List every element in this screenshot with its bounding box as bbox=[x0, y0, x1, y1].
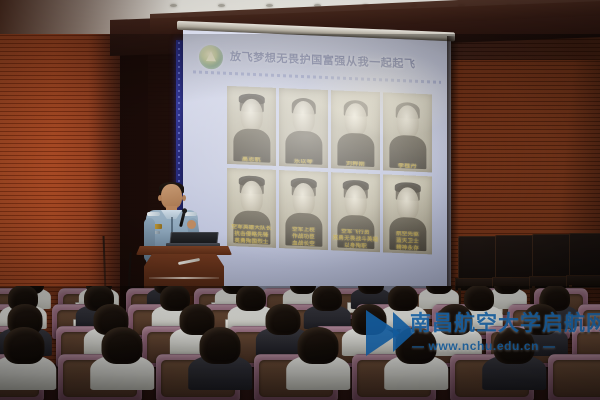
logo-notch bbox=[368, 325, 383, 341]
watermark-url: — www.nchu.edu.cn — bbox=[412, 339, 600, 353]
watermark-site-name: 南昌航空大学启航网 bbox=[410, 312, 600, 336]
watermark: 南昌航空大学启航网 — www.nchu.edu.cn — bbox=[366, 306, 600, 368]
photograph: 放飞梦想无畏护国富强从我一起起飞 高志航乐以琴刘粹刚李桂丹 空军英雄大队长抗击侵… bbox=[0, 0, 600, 400]
